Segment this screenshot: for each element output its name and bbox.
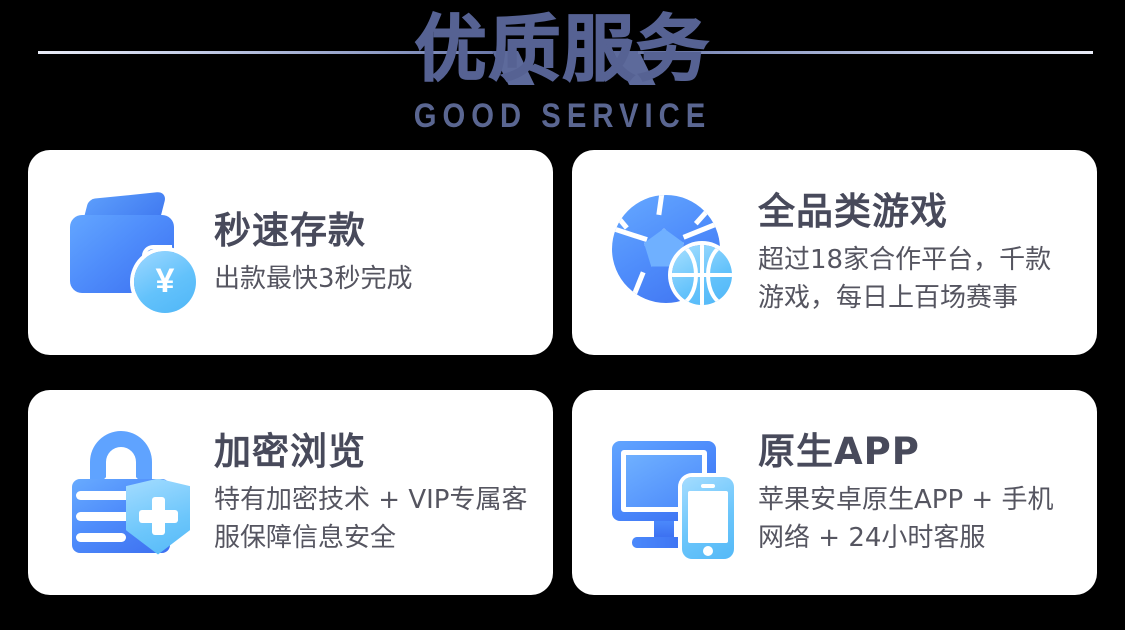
card-title: 原生APP xyxy=(758,429,1053,475)
feature-card-native-app[interactable]: 原生APP 苹果安卓原生APP + 手机 网络 + 24小时客服 xyxy=(572,390,1097,595)
card-text-block: 原生APP 苹果安卓原生APP + 手机 网络 + 24小时客服 xyxy=(758,429,1067,557)
lock-shield-icon xyxy=(60,423,200,563)
card-subtitle-line: 网络 + 24小时客服 xyxy=(758,519,1053,557)
wallet-yen-icon: ¥ xyxy=(60,183,200,323)
monitor-phone-icon xyxy=(604,423,744,563)
feature-card-encryption[interactable]: 加密浏览 特有加密技术 + VIP专属客 服保障信息安全 xyxy=(28,390,553,595)
promo-banner: 优质服务 GOOD SERVICE ¥ 秒速存款 出款最快3秒完成 xyxy=(0,0,1125,630)
card-text-block: 全品类游戏 超过18家合作平台，千款 游戏，每日上百场赛事 xyxy=(758,189,1065,317)
card-subtitle-line: 服保障信息安全 xyxy=(214,519,527,557)
page-title: 优质服务 xyxy=(0,6,1125,92)
card-subtitle-line: 出款最快3秒完成 xyxy=(214,260,413,298)
card-subtitle-line: 超过18家合作平台，千款 xyxy=(758,241,1051,279)
card-title: 秒速存款 xyxy=(214,208,413,254)
card-subtitle: 特有加密技术 + VIP专属客 服保障信息安全 xyxy=(214,481,527,557)
yen-symbol: ¥ xyxy=(156,264,175,298)
feature-card-games[interactable]: 全品类游戏 超过18家合作平台，千款 游戏，每日上百场赛事 xyxy=(572,150,1097,355)
card-title: 全品类游戏 xyxy=(758,189,1051,235)
banner-header: 优质服务 GOOD SERVICE xyxy=(0,0,1125,142)
page-subtitle: GOOD SERVICE xyxy=(79,96,1047,136)
card-text-block: 秒速存款 出款最快3秒完成 xyxy=(214,208,427,298)
yen-coin-icon: ¥ xyxy=(134,251,196,313)
phone-icon xyxy=(682,477,734,559)
card-text-block: 加密浏览 特有加密技术 + VIP专属客 服保障信息安全 xyxy=(214,429,541,557)
feature-card-deposit[interactable]: ¥ 秒速存款 出款最快3秒完成 xyxy=(28,150,553,355)
card-title: 加密浏览 xyxy=(214,429,527,475)
card-subtitle-line: 苹果安卓原生APP + 手机 xyxy=(758,481,1053,519)
soccer-basketball-icon xyxy=(604,183,744,323)
card-subtitle-line: 游戏，每日上百场赛事 xyxy=(758,279,1051,317)
basketball-icon xyxy=(672,245,732,305)
card-subtitle: 超过18家合作平台，千款 游戏，每日上百场赛事 xyxy=(758,241,1051,317)
feature-card-grid: ¥ 秒速存款 出款最快3秒完成 xyxy=(28,150,1097,595)
card-subtitle: 出款最快3秒完成 xyxy=(214,260,413,298)
card-subtitle-line: 特有加密技术 + VIP专属客 xyxy=(214,481,527,519)
card-subtitle: 苹果安卓原生APP + 手机 网络 + 24小时客服 xyxy=(758,481,1053,557)
